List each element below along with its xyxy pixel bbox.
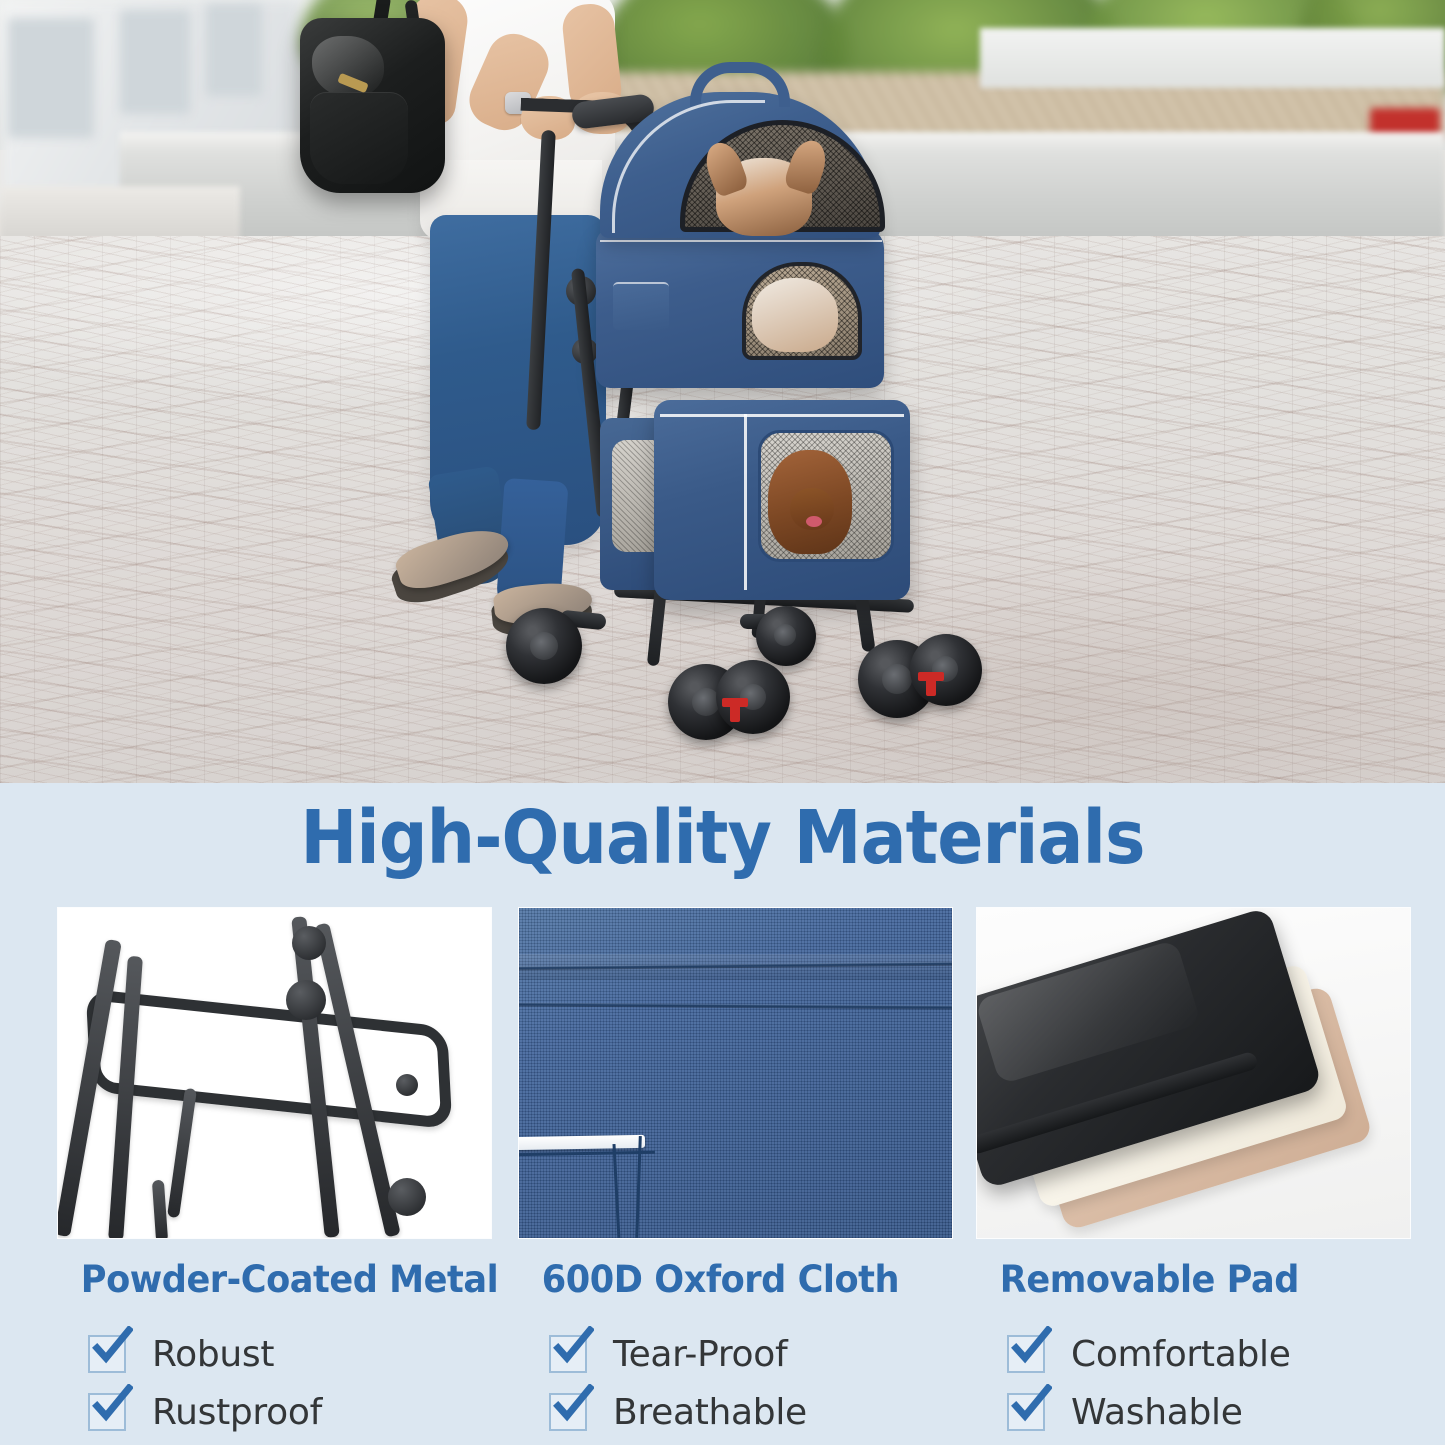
feature-item: Tear-Proof [549,1325,952,1383]
checkbox-checked-icon [1007,1393,1045,1431]
frame-support-strut [167,1088,197,1218]
card-title: 600D Oxford Cloth [519,1258,930,1301]
checkbox-checked-icon [549,1393,587,1431]
feature-label: Rustproof [152,1392,322,1433]
feature-item: Robust [88,1325,491,1383]
background-wall-upper-step [980,28,1445,88]
oxford-fabric-texture [519,908,952,1238]
background-curb [0,186,240,242]
feature-list: Tear-Proof Breathable [519,1325,952,1441]
upper-carrier-piping [600,240,882,242]
feature-item: Washable [1007,1383,1410,1441]
feature-label: Robust [152,1334,274,1375]
backpack-front-pocket [310,92,408,184]
upper-carrier-side-pocket [613,282,669,330]
lower-carrier-piping [660,414,904,417]
frame-pivot-joint [388,1178,426,1216]
feature-label: Comfortable [1071,1334,1291,1375]
material-card-powder-coated-metal: Powder-Coated Metal Robust Rustproof [58,908,491,1441]
frame-rectangle-rail [86,988,453,1129]
frame-pivot-joint [396,1074,418,1096]
lower-carrier-piping-vertical [744,414,747,590]
materials-panel: High-Quality Materials [0,783,1445,1445]
product-feature-graphic: High-Quality Materials [0,0,1445,1445]
material-cards: Powder-Coated Metal Robust Rustproof [0,908,1445,1438]
card-title: Removable Pad [977,1258,1388,1301]
background-window [8,18,94,138]
brake-pedal-top [722,698,748,707]
frame-pivot-joint [286,980,326,1020]
frame-support-foot [152,1180,168,1238]
feature-item: Rustproof [88,1383,491,1441]
wheel-hub [882,664,912,694]
feature-list: Robust Rustproof [58,1325,491,1441]
feature-item: Comfortable [1007,1325,1410,1383]
feature-label: Washable [1071,1392,1243,1433]
material-card-oxford-cloth: 600D Oxford Cloth Tear-Proof Breathable [519,908,952,1441]
brake-pedal-top [918,672,944,681]
feature-label: Breathable [613,1392,807,1433]
background-window [206,4,262,96]
fabric-seam [519,1002,952,1009]
upper-carrier-dog-body [752,278,838,352]
material-card-removable-pad: Removable Pad Comfortable Washable [977,908,1410,1441]
feature-list: Comfortable Washable [977,1325,1410,1441]
poodle-tongue [806,516,822,527]
pad-scene [977,908,1410,1238]
wheel-hub [530,632,558,660]
metal-frame-scene [58,908,491,1238]
white-piping-strip [519,1135,645,1150]
powder-coated-metal-frame-photo [58,908,491,1238]
feature-item: Breathable [549,1383,952,1441]
feature-label: Tear-Proof [613,1334,787,1375]
checkbox-checked-icon [1007,1335,1045,1373]
card-title: Powder-Coated Metal [58,1258,469,1301]
checkbox-checked-icon [88,1335,126,1373]
panel-title: High-Quality Materials [58,795,1387,881]
600d-oxford-cloth-closeup-photo [519,908,952,1238]
fabric-stitch-line-vertical [612,1144,620,1238]
frame-pivot-joint [292,926,326,960]
wheel-hub [774,624,796,646]
checkbox-checked-icon [549,1335,587,1373]
removable-pad-layers-photo [977,908,1410,1238]
checkbox-checked-icon [88,1393,126,1431]
hero-lifestyle-photo [0,0,1445,783]
background-window [120,10,190,114]
fabric-stitch-line [519,1151,655,1156]
